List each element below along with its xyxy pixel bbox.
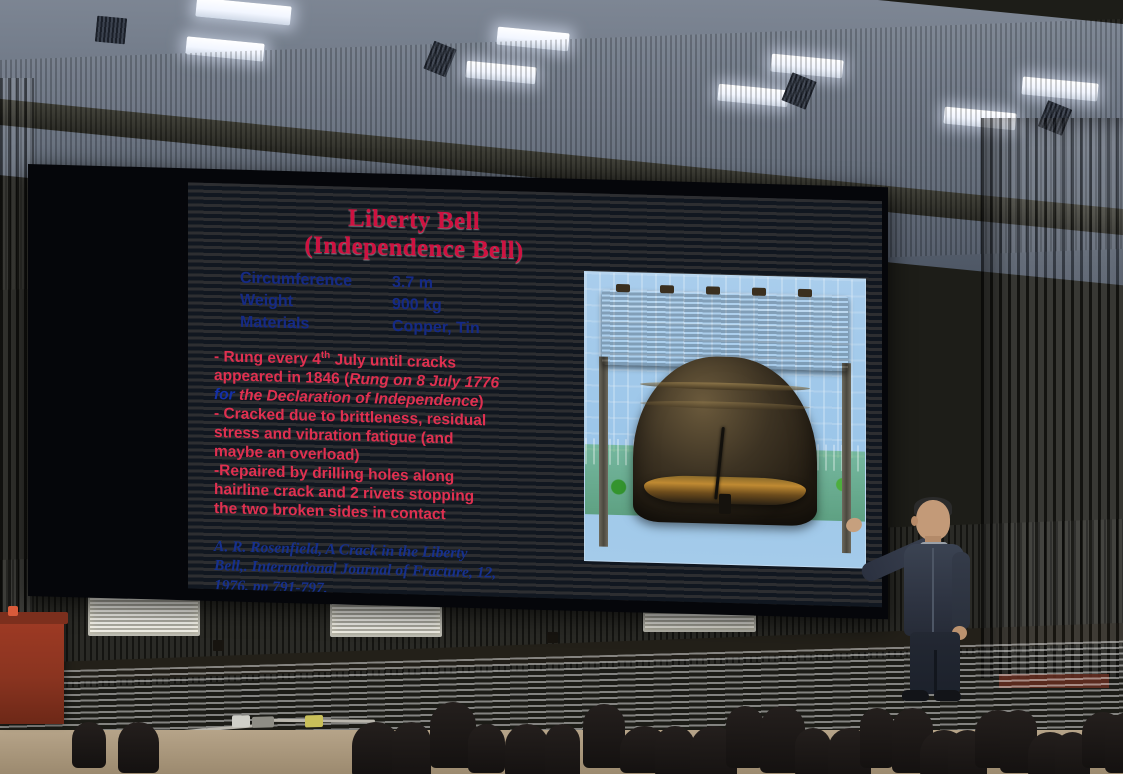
presenter-shoe-left xyxy=(902,690,929,701)
presenter-shoe-right xyxy=(934,690,961,701)
photo-support-post-left xyxy=(599,356,608,546)
bullet-1-line2-pre: appeared in 1846 ( xyxy=(214,367,349,388)
auditorium-scene: Liberty Bell (Independence Bell) Circumf… xyxy=(0,0,1123,774)
wall-outlet xyxy=(547,632,558,643)
floor-device-1 xyxy=(232,715,250,728)
audience-head xyxy=(726,706,764,768)
presenter-speaker xyxy=(880,500,990,700)
slide-title: Liberty Bell (Independence Bell) xyxy=(214,201,614,268)
italic-phrase-a: Rung on 8 July 1776 xyxy=(349,371,499,392)
lectern-podium[interactable] xyxy=(0,620,64,724)
audience-head xyxy=(545,724,580,774)
bullet-1-close-paren: ) xyxy=(478,393,483,410)
ceiling-vent-1 xyxy=(95,16,127,45)
yoke-bolt-2 xyxy=(660,285,674,293)
yoke-bolt-1 xyxy=(616,284,630,292)
bell-inscription-band xyxy=(640,381,810,393)
led-video-wall[interactable]: Liberty Bell (Independence Bell) Circumf… xyxy=(28,164,888,619)
italic-blue-for: for xyxy=(214,386,235,404)
spec-label-materials: Materials xyxy=(240,312,392,338)
ordinal-superscript: th xyxy=(321,350,330,361)
presenter-jacket-zipper xyxy=(932,548,934,632)
wall-outlet-2 xyxy=(213,640,224,651)
slide-body-text: - Rung every 4th July until cracks appea… xyxy=(214,347,614,529)
audience-head xyxy=(860,708,894,768)
audience-head xyxy=(392,722,431,774)
presenter-head xyxy=(916,500,950,540)
slide-citation: A. R. Rosenfield, A Crack in the Liberty… xyxy=(214,537,614,606)
yoke-bolt-4 xyxy=(752,288,766,296)
yoke-bolt-5 xyxy=(798,289,812,297)
yoke-bolt-3 xyxy=(706,287,720,295)
slide-text-column: Liberty Bell (Independence Bell) Circumf… xyxy=(214,201,614,606)
floor-device-2 xyxy=(252,716,274,728)
presenter-ear xyxy=(911,516,918,526)
audience-head xyxy=(795,728,831,774)
audience-head xyxy=(655,726,695,774)
presenter-leg-separation xyxy=(934,650,937,694)
audience-head xyxy=(468,724,505,773)
audience-head xyxy=(72,722,106,768)
spec-value-materials: Copper, Tin xyxy=(392,316,480,340)
audience-head xyxy=(583,704,625,768)
presentation-slide[interactable]: Liberty Bell (Independence Bell) Circumf… xyxy=(188,182,882,607)
presenter-lowered-arm xyxy=(952,552,970,630)
podium-object xyxy=(8,606,18,616)
bullet-1-post: July until cracks xyxy=(330,352,456,372)
floor-device-3 xyxy=(305,715,323,728)
audience-head xyxy=(118,722,159,773)
audience-head xyxy=(505,724,549,774)
spec-value-circumference: 3.7 m xyxy=(392,272,433,295)
bell-clapper xyxy=(719,493,731,513)
liberty-bell-photo xyxy=(584,271,866,569)
bell-band-2 xyxy=(640,399,810,411)
stage-curtain-right xyxy=(981,118,1123,678)
specifications-table: Circumference 3.7 m Weight 900 kg Materi… xyxy=(240,268,614,344)
bullet-1-pre: - Rung every 4 xyxy=(214,348,321,368)
spec-value-weight: 900 kg xyxy=(392,294,442,317)
